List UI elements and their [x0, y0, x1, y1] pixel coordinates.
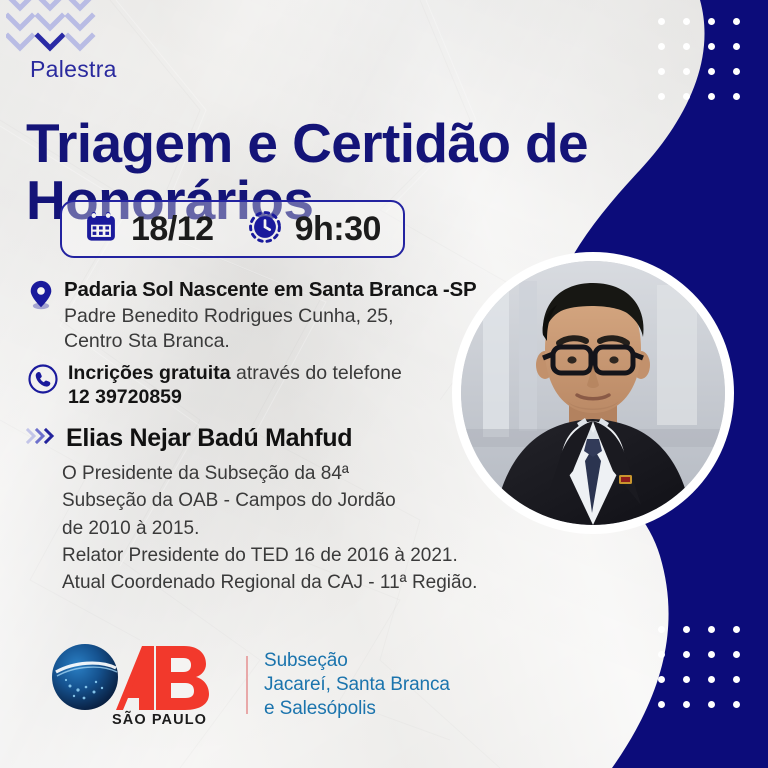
venue-name: Padaria Sol Nascente em Santa Branca -SP	[64, 278, 476, 302]
event-poster: Palestra Triagem e Certidão de Honorário…	[0, 0, 768, 768]
calendar-icon	[84, 210, 118, 249]
registration-block: Incrições gratuita através do telefone 1…	[28, 362, 498, 409]
speaker-block: Elias Nejar Badú Mahfud O Presidente da …	[26, 424, 526, 597]
footer-subsection-line-2: Jacareí, Santa Branca	[264, 673, 450, 697]
speaker-bio-line: Relator Presidente do TED 16 de 2016 à 2…	[62, 542, 526, 569]
datetime-badge: 18/12 9h:30	[60, 200, 405, 258]
speaker-bio-line: Atual Coordenado Regional da CAJ - 11ª R…	[62, 569, 526, 596]
venue-address: Padre Benedito Rodrigues Cunha, 25, Cent…	[64, 304, 476, 355]
speaker-bio: O Presidente da Subseção da 84ª Subseção…	[62, 460, 526, 597]
speaker-header: Elias Nejar Badú Mahfud	[26, 424, 526, 453]
venue-block: Padaria Sol Nascente em Santa Branca -SP…	[28, 278, 498, 355]
speaker-name: Elias Nejar Badú Mahfud	[66, 424, 352, 453]
speaker-bio-line: O Presidente da Subseção da 84ª	[62, 460, 526, 487]
venue-address-line-1: Padre Benedito Rodrigues Cunha, 25,	[64, 304, 476, 329]
registration-text: Incrições gratuita através do telefone 1…	[68, 362, 402, 409]
oab-state-label: SÃO PAULO	[112, 712, 207, 728]
oab-logo: SÃO PAULO	[50, 642, 228, 728]
map-pin-icon	[28, 280, 54, 355]
oab-logo-mark-icon	[50, 642, 228, 712]
kicker-label: Palestra	[30, 56, 117, 83]
venue-text: Padaria Sol Nascente em Santa Branca -SP…	[64, 278, 476, 355]
venue-address-line-2: Centro Sta Branca.	[64, 329, 476, 354]
footer-divider	[246, 656, 248, 714]
clock-icon	[248, 210, 282, 249]
footer-subsection-line-3: e Salesópolis	[264, 697, 450, 721]
double-chevron-right-icon	[26, 426, 56, 451]
footer-subsection-line-1: Subseção	[264, 649, 450, 673]
portrait-illustration	[461, 261, 725, 525]
registration-phone-number: 12 39720859	[68, 386, 402, 409]
speaker-portrait-image	[461, 261, 725, 525]
event-date: 18/12	[131, 210, 214, 249]
registration-label: Incrições gratuita através do telefone	[68, 362, 402, 385]
phone-circle-icon	[28, 364, 58, 409]
speaker-bio-line: Subseção da OAB - Campos do Jordão	[62, 487, 526, 514]
footer-logo-block: SÃO PAULO Subseção Jacareí, Santa Branca…	[50, 642, 450, 728]
event-time: 9h:30	[295, 210, 381, 249]
speaker-portrait	[452, 252, 734, 534]
registration-label-rest: através do telefone	[231, 362, 402, 384]
speaker-bio-line: de 2010 à 2015.	[62, 515, 526, 542]
footer-subsection-text: Subseção Jacareí, Santa Branca e Salesóp…	[264, 649, 450, 722]
registration-label-bold: Incrições gratuita	[68, 362, 231, 384]
